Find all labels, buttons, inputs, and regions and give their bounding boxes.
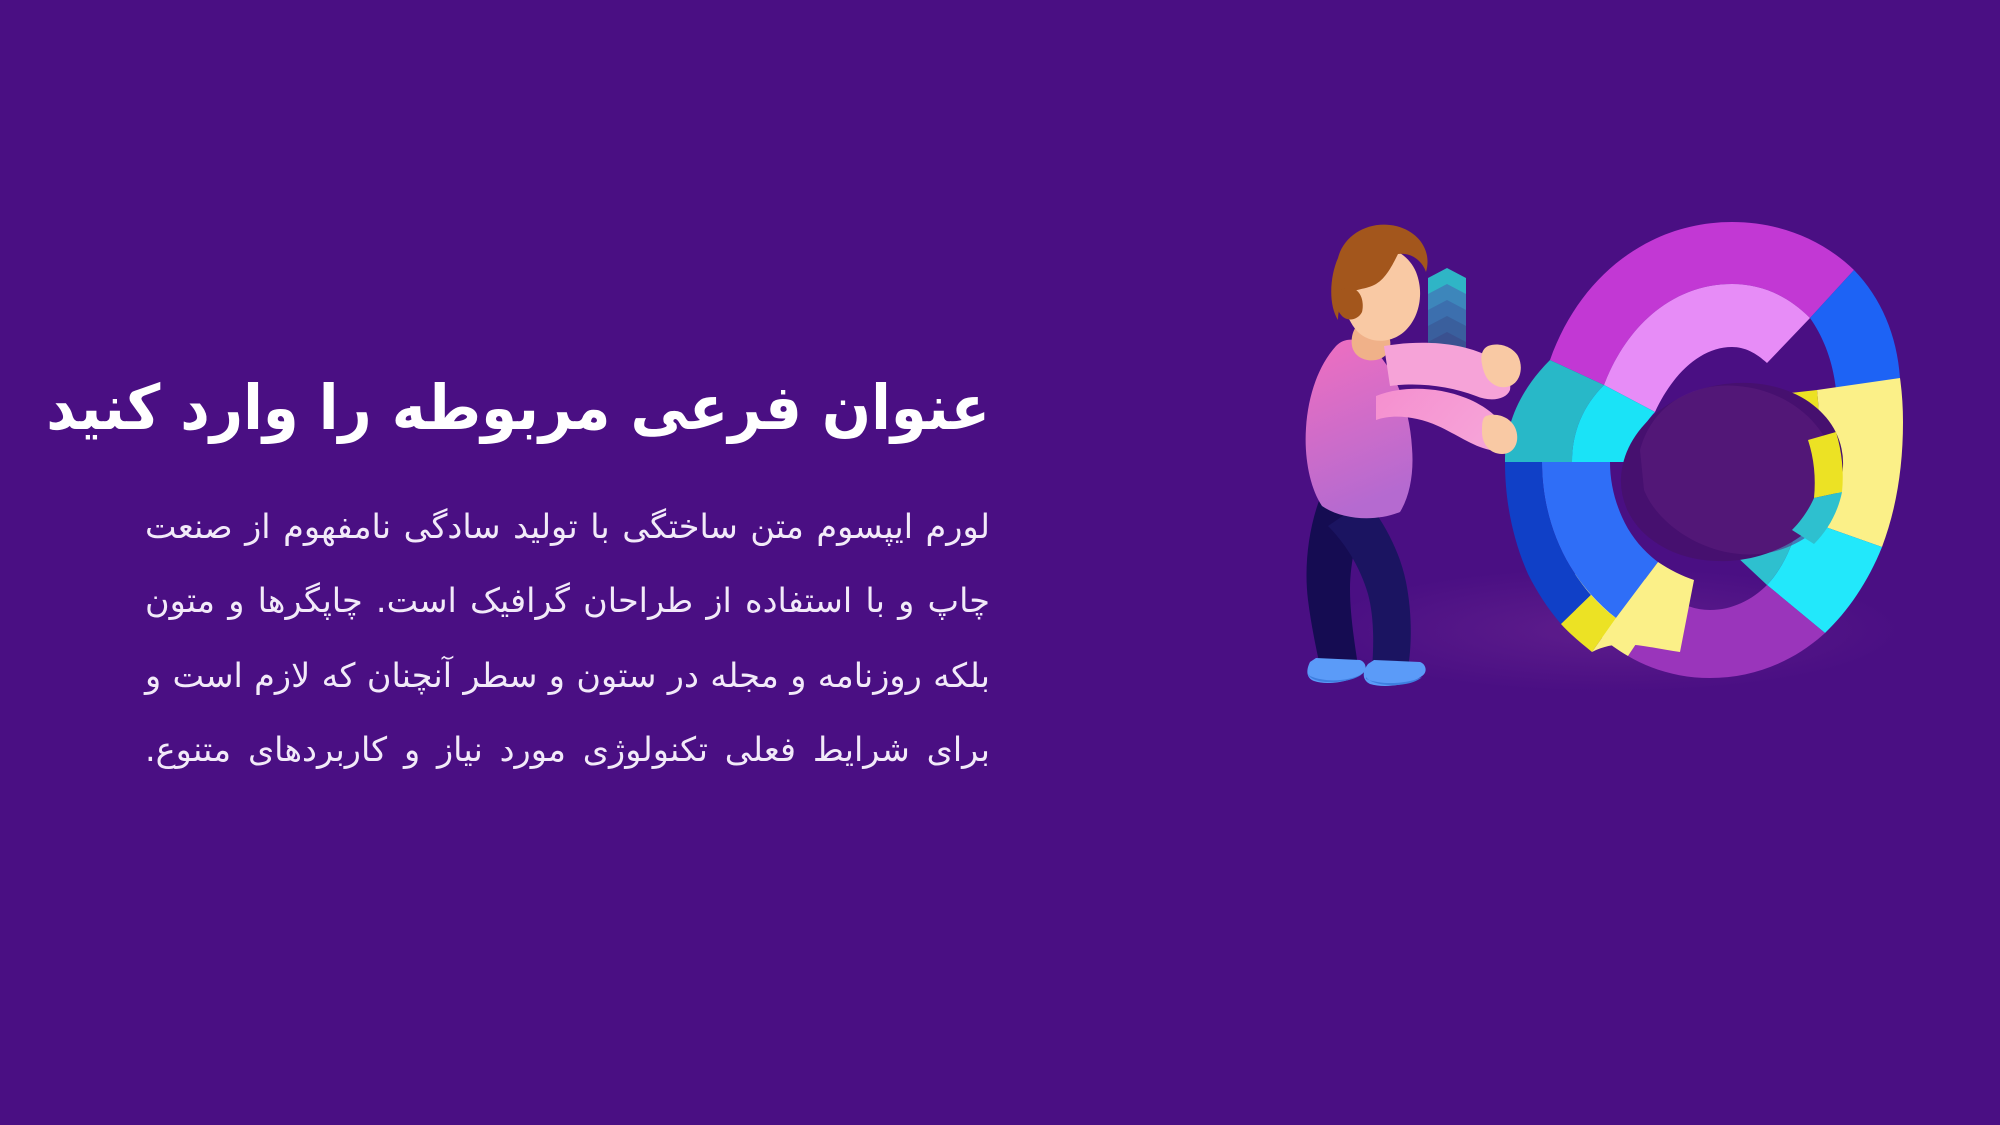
text-block: عنوان فرعی مربوطه را وارد کنید لورم ایپس… [145, 372, 990, 787]
person-hair-sideburn [1336, 288, 1363, 320]
page-title: عنوان فرعی مربوطه را وارد کنید [204, 372, 990, 444]
person-front-shoe [1364, 660, 1426, 686]
illustration-person-pushing-donut [1280, 200, 1900, 700]
body-paragraph: لورم ایپسوم متن ساختگی با تولید سادگی نا… [145, 490, 990, 787]
slide-canvas: عنوان فرعی مربوطه را وارد کنید لورم ایپس… [0, 0, 2000, 1125]
